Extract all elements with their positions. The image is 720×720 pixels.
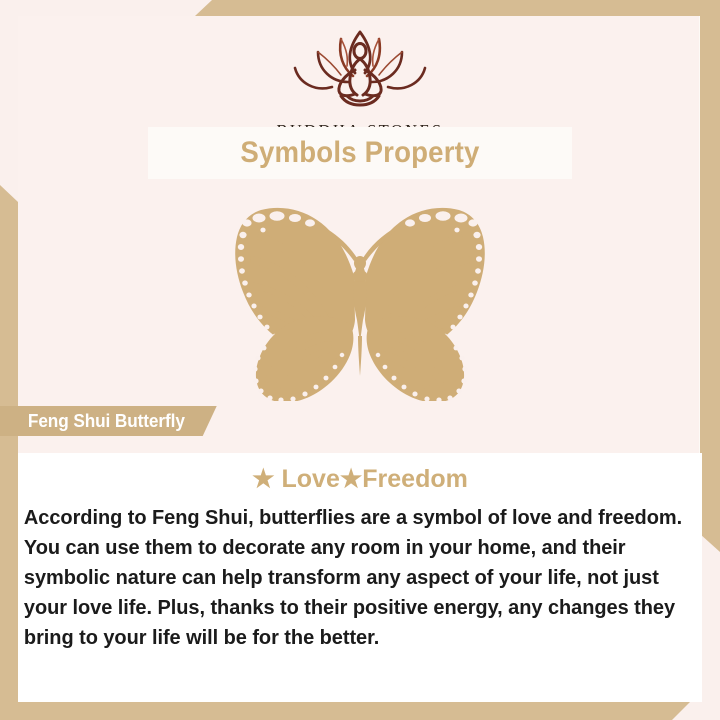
infographic-page: BUDDHA STONES Symbols Property bbox=[0, 0, 720, 720]
lotus-meditation-icon bbox=[285, 26, 435, 112]
brand-logo-block: BUDDHA STONES bbox=[0, 26, 720, 141]
love-freedom-heading: ★ Love★Freedom bbox=[18, 453, 702, 494]
page-title: Symbols Property bbox=[240, 136, 479, 170]
feng-shui-banner: Feng Shui Butterfly bbox=[0, 406, 217, 436]
page-title-band: Symbols Property bbox=[148, 127, 572, 179]
frame-bottom-band bbox=[0, 702, 690, 720]
frame-top-band bbox=[195, 0, 720, 16]
butterfly-illustration bbox=[0, 196, 720, 401]
monarch-butterfly-icon bbox=[207, 196, 513, 401]
description-panel: ★ Love★Freedom According to Feng Shui, b… bbox=[18, 453, 702, 702]
description-paragraph: According to Feng Shui, butterflies are … bbox=[18, 494, 692, 653]
feng-shui-banner-label: Feng Shui Butterfly bbox=[28, 410, 185, 432]
